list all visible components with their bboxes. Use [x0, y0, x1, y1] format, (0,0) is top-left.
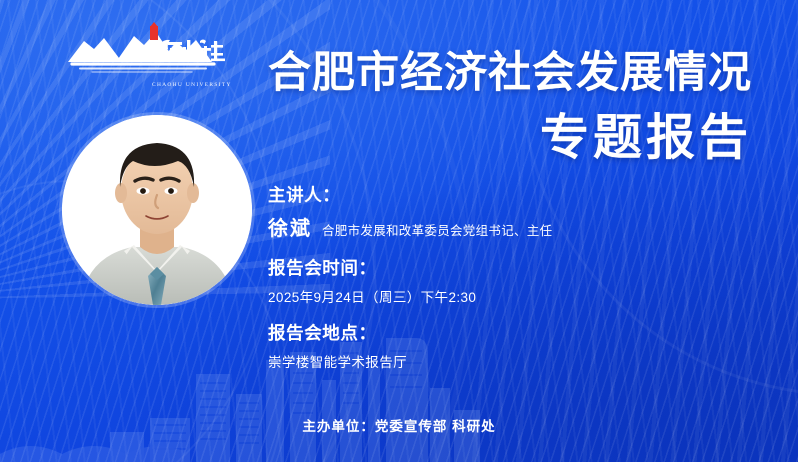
speaker-label: 主讲人： — [268, 185, 688, 207]
speaker-title: 合肥市发展和改革委员会党组书记、主任 — [322, 220, 552, 239]
speaker-name: 徐斌 — [268, 212, 312, 241]
spacer-1 — [268, 241, 688, 258]
title-line-1: 合肥市经济社会发展情况 — [268, 52, 752, 95]
time-value: 2025年9月24日（周三）下午2:30 — [268, 286, 688, 306]
organizer-footer: 主办单位：党委宣传部 科研处 — [0, 415, 798, 435]
place-value: 崇学楼智能学术报告厅 — [268, 351, 688, 371]
portrait-image — [62, 115, 252, 305]
poster-title: 合肥市经济社会发展情况 专题报告 — [268, 52, 752, 163]
time-label: 报告会时间： — [268, 258, 688, 280]
speaker-row: 徐斌 合肥市发展和改革委员会党组书记、主任 — [268, 212, 688, 241]
place-label: 报告会地点： — [268, 323, 688, 345]
poster-canvas: CHAOHU UNIVERSITY — [0, 0, 798, 462]
info-block: 主讲人： 徐斌 合肥市发展和改革委员会党组书记、主任 报告会时间： 2025年9… — [268, 185, 688, 371]
title-line-2: 专题报告 — [268, 114, 752, 163]
speaker-portrait — [62, 115, 252, 305]
brand-logo-english: CHAOHU UNIVERSITY — [152, 82, 232, 88]
mountain-logo-icon — [64, 22, 244, 80]
brand-logo: CHAOHU UNIVERSITY — [64, 22, 244, 80]
spacer-2 — [268, 306, 688, 323]
